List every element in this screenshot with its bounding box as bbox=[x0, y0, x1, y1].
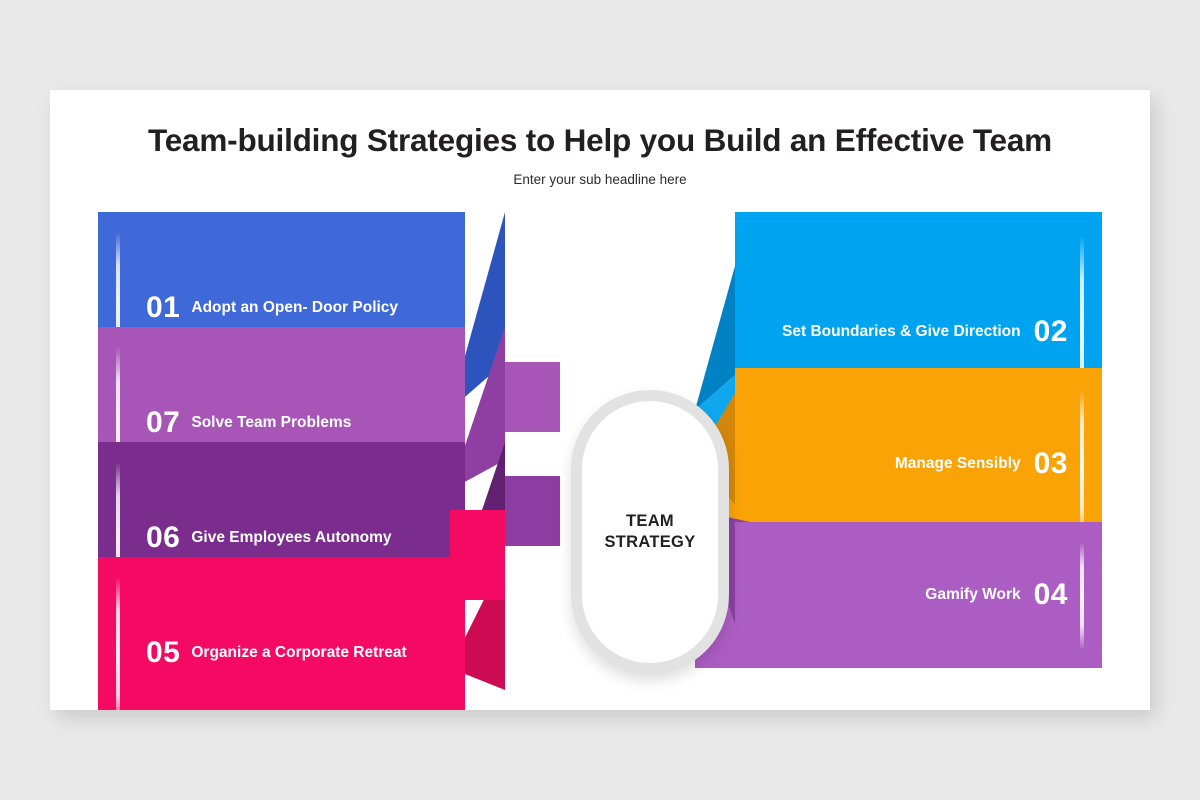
step-03-accent bbox=[1080, 390, 1084, 540]
slide-card: Team-building Strategies to Help you Bui… bbox=[50, 90, 1150, 710]
center-label-line1: TEAM bbox=[626, 512, 674, 530]
step-06-tongue bbox=[505, 476, 560, 546]
center-label-line2: STRATEGY bbox=[604, 533, 695, 551]
step-07-tongue bbox=[505, 362, 560, 432]
center-capsule[interactable]: TEAM STRATEGY bbox=[571, 390, 729, 674]
step-04-bar bbox=[735, 522, 1102, 668]
step-05-bar bbox=[98, 557, 465, 710]
step-05-accent bbox=[116, 577, 120, 710]
step-shape-04[interactable] bbox=[695, 510, 1102, 668]
center-capsule-label: TEAM STRATEGY bbox=[604, 511, 695, 553]
step-04-accent bbox=[1080, 542, 1084, 650]
slide-canvas: Team-building Strategies to Help you Bui… bbox=[0, 0, 1200, 800]
